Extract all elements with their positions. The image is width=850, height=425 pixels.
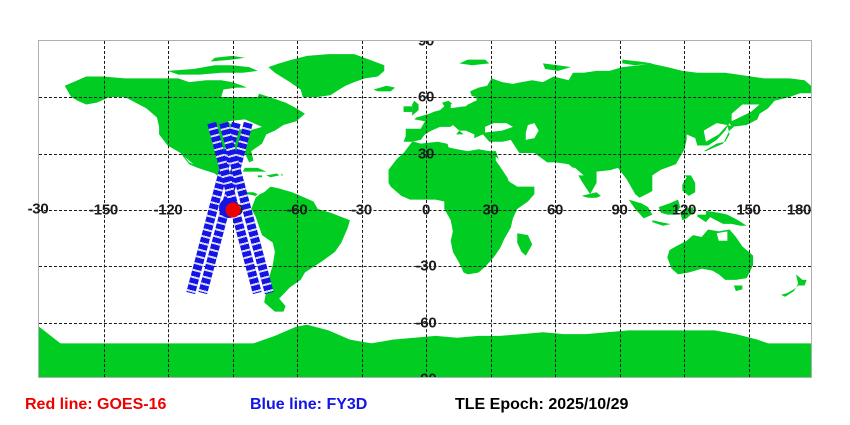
lat-tick-neg60: -60 bbox=[416, 314, 437, 331]
lat-tick-30: 30 bbox=[418, 145, 434, 162]
tle-epoch-label: TLE Epoch: 2025/10/29 bbox=[455, 396, 628, 414]
lon-tick-neg30: -30 bbox=[351, 202, 372, 219]
lon-tick-neg120: -120 bbox=[154, 202, 183, 219]
lat-tick-0: 0 bbox=[422, 202, 430, 219]
legend-caption: Red line: GOES-16 Blue line: FY3D TLE Ep… bbox=[0, 396, 850, 425]
lat-tick-neg90: -90 bbox=[416, 371, 437, 379]
lon-tick-120: 120 bbox=[672, 202, 696, 219]
lon-tick-neg30-gutter: -30 bbox=[28, 201, 49, 218]
lat-tick-60: 60 bbox=[418, 89, 434, 106]
lon-tick-neg150: -150 bbox=[89, 202, 118, 219]
lon-tick-90: 90 bbox=[611, 202, 627, 219]
satellite-ground-track-map: 9060300-30-60-90-150-120-90-60-303060901… bbox=[0, 0, 850, 425]
map-plot-area[interactable]: 9060300-30-60-90-150-120-90-60-303060901… bbox=[38, 40, 812, 378]
lon-tick-30: 30 bbox=[482, 202, 498, 219]
legend-blue-line: Blue line: FY3D bbox=[250, 396, 367, 414]
lon-tick-60: 60 bbox=[547, 202, 563, 219]
lon-tick-neg90: -90 bbox=[222, 202, 243, 219]
lat-tick-90: 90 bbox=[418, 40, 434, 50]
lon-tick-150: 150 bbox=[736, 202, 760, 219]
lon-tick-180: 180 bbox=[787, 202, 811, 219]
lat-tick-neg30: -30 bbox=[416, 258, 437, 275]
lon-tick-neg60: -60 bbox=[287, 202, 308, 219]
legend-red-line: Red line: GOES-16 bbox=[25, 396, 166, 414]
